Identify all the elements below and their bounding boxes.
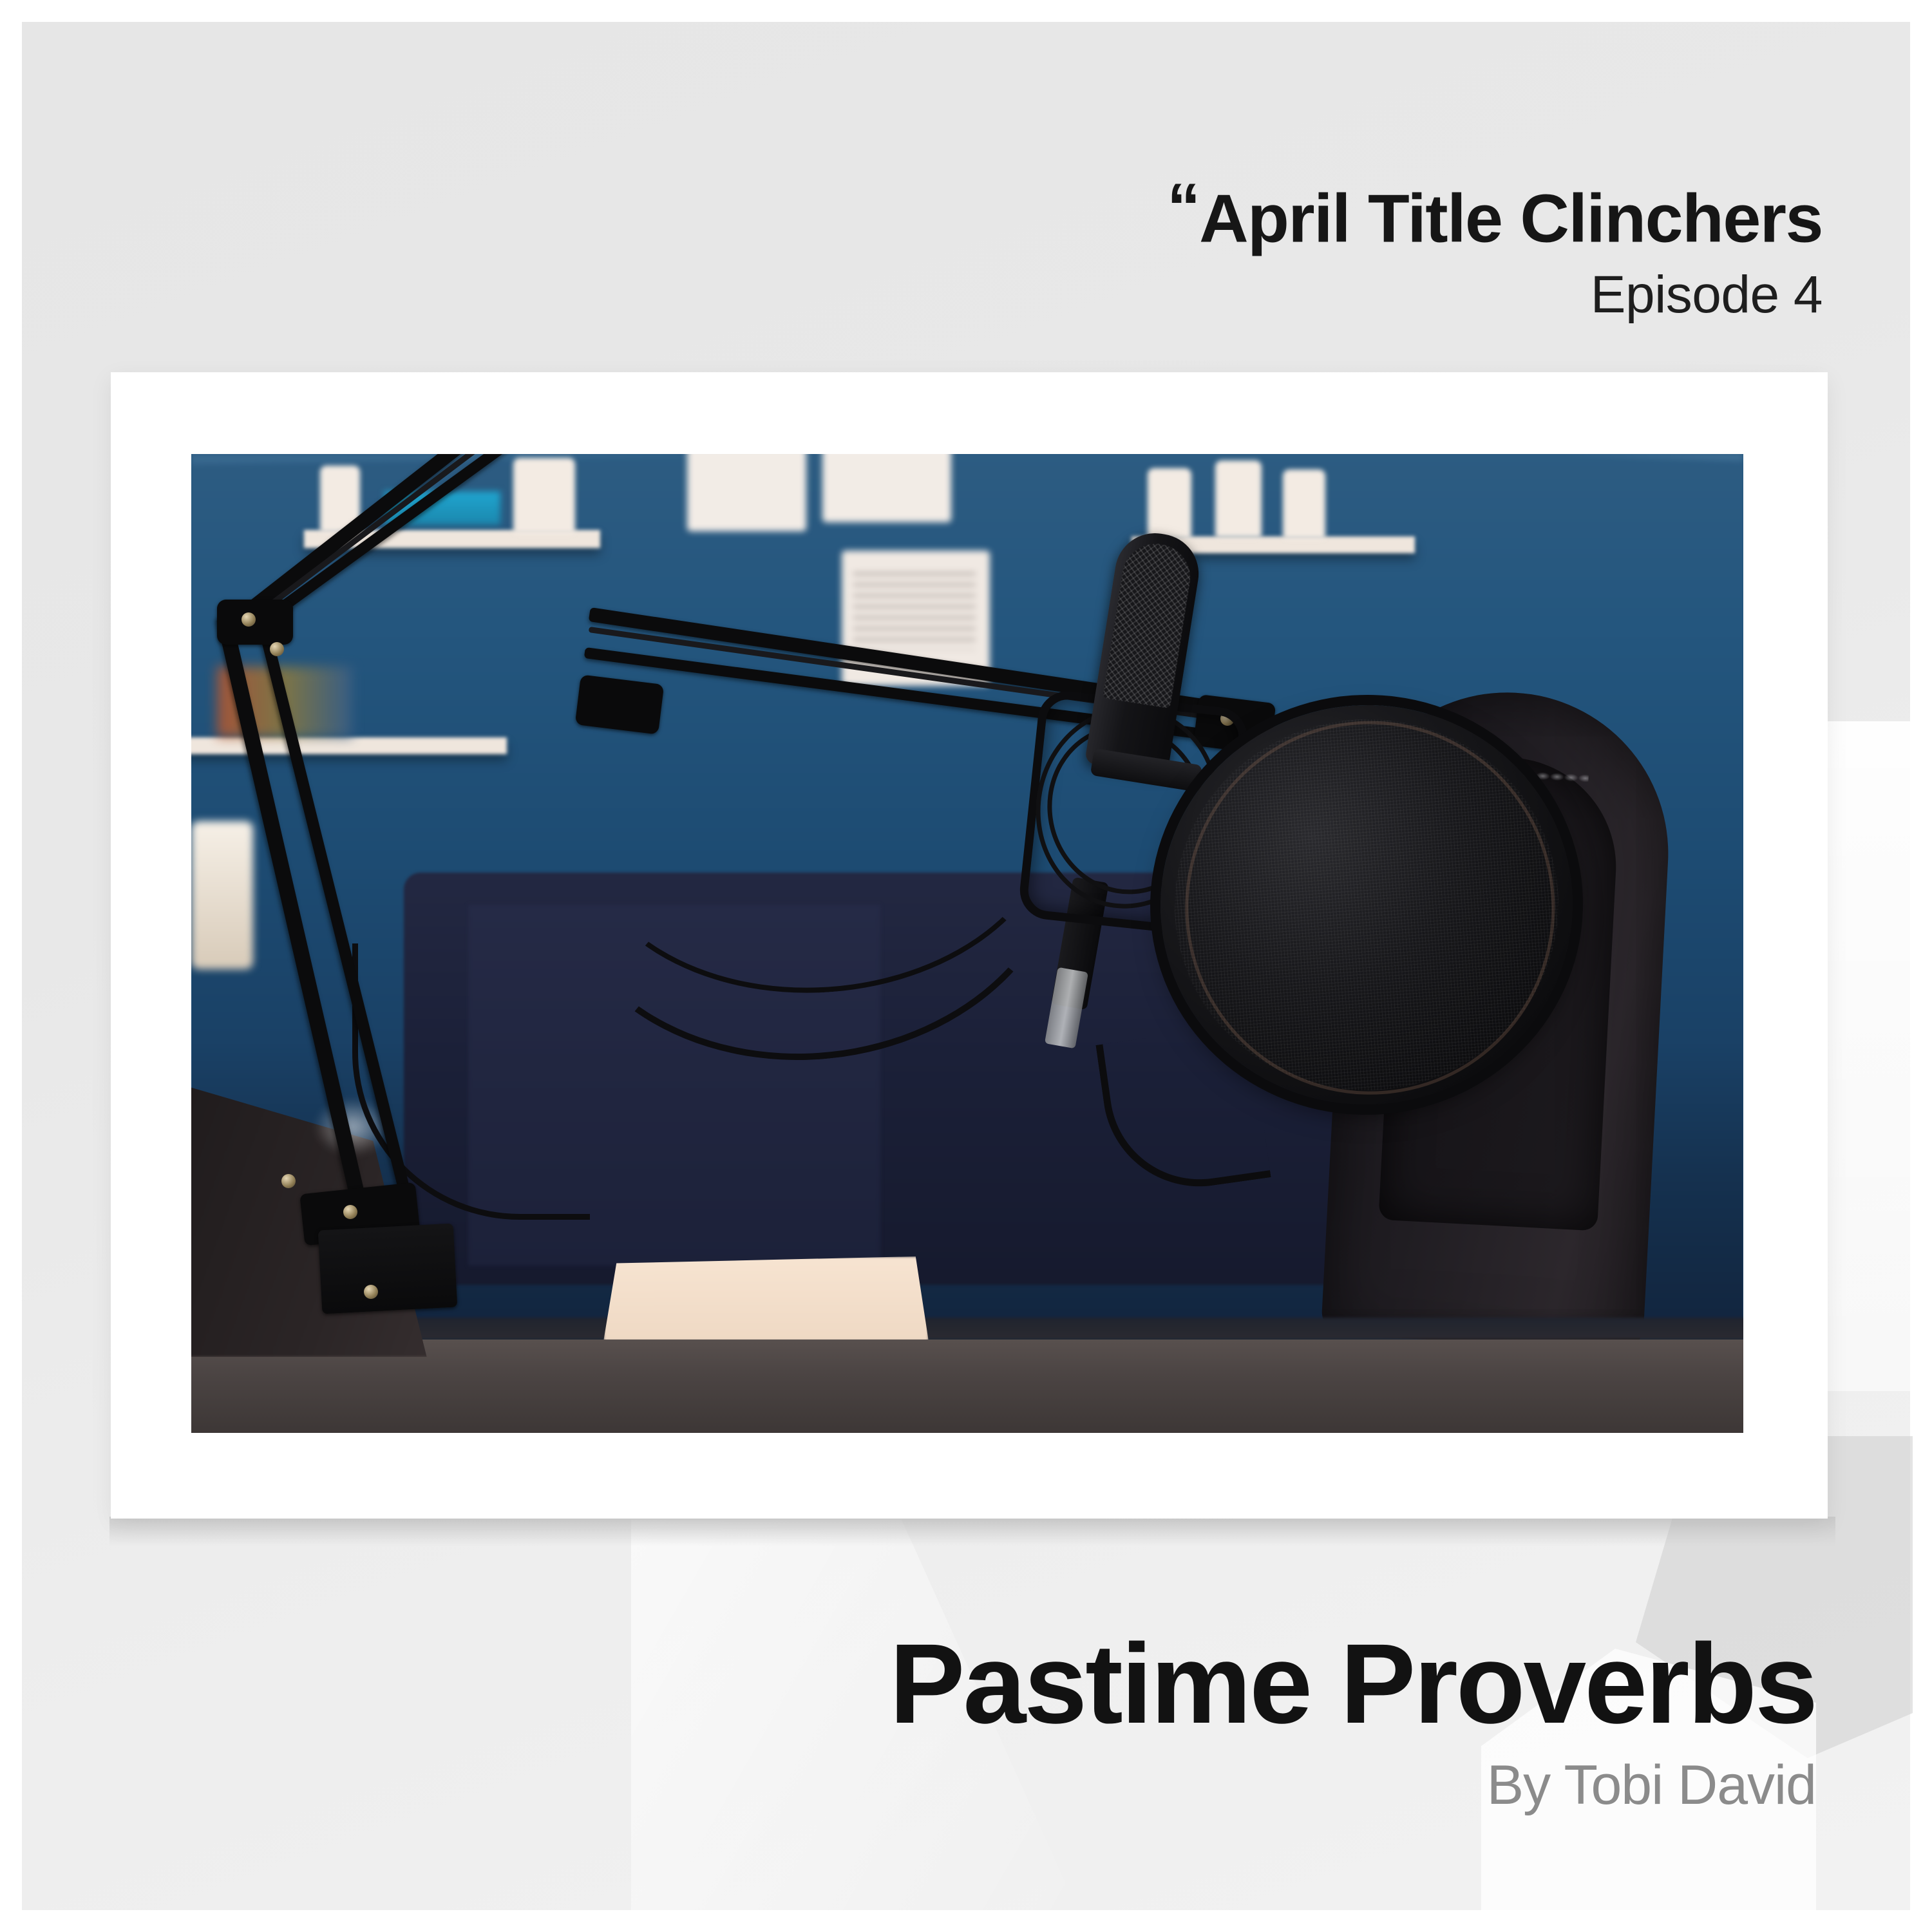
episode-title-text: April Title Clinchers — [1199, 181, 1823, 257]
boom-joint-mid — [575, 674, 665, 734]
xlr-cable-tail — [352, 943, 590, 1220]
boom-screw — [343, 1205, 357, 1219]
episode-header: “April Title Clinchers Episode 4 — [1167, 174, 1823, 321]
boom-screw — [241, 612, 256, 627]
studio-photo — [191, 454, 1743, 1433]
boom-screw — [281, 1174, 296, 1188]
boom-screw — [364, 1285, 378, 1299]
photo-card — [111, 372, 1828, 1519]
show-title: Pastime Proverbs — [889, 1627, 1816, 1741]
show-byline: By Tobi David — [889, 1757, 1816, 1813]
microphone-stem-metal — [1045, 967, 1088, 1049]
boom-screw — [270, 642, 284, 656]
podcast-cover-artwork: “April Title Clinchers Episode 4 — [0, 0, 1932, 1932]
microphone-rig — [191, 454, 1743, 1433]
episode-title: “April Title Clinchers — [1167, 174, 1823, 253]
episode-number: Episode 4 — [1167, 269, 1823, 321]
boom-arm-column — [216, 615, 368, 1208]
microphone-grille — [1103, 539, 1195, 709]
boom-desk-clamp — [318, 1224, 458, 1314]
pop-filter-rim — [1173, 708, 1567, 1107]
show-footer: Pastime Proverbs By Tobi David — [889, 1627, 1816, 1813]
quote-mark-icon: “ — [1167, 170, 1197, 245]
